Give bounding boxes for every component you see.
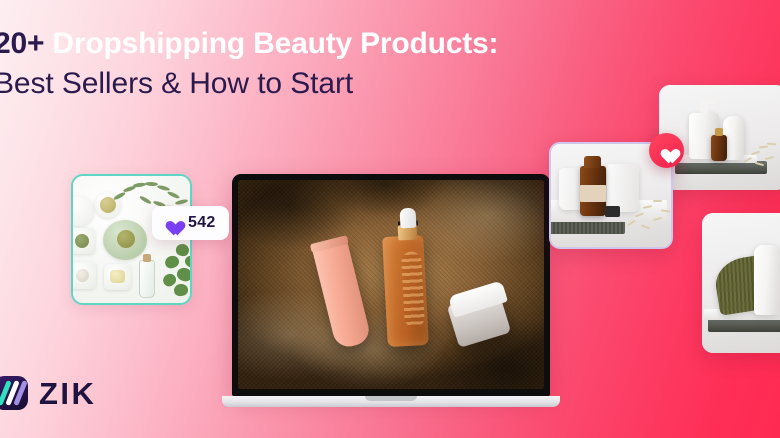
heart-icon	[163, 215, 180, 231]
headline-line-1-rest: Dropshipping Beauty Products:	[44, 27, 498, 60]
zik-logo[interactable]: ZIK	[0, 376, 96, 410]
white-cosmetic-tube	[754, 245, 780, 315]
headline-line-1: 20+ Dropshipping Beauty Products:	[0, 24, 634, 64]
headline-line-2: Best Sellers & How to Start	[0, 64, 634, 104]
serum-dropper-cap	[399, 208, 416, 229]
heart-icon	[658, 143, 675, 159]
headline-block: 20+ Dropshipping Beauty Products: Best S…	[0, 24, 634, 104]
bottle-shadow-block	[605, 206, 620, 217]
glass-bottle	[139, 260, 155, 298]
like-count-value: 542	[188, 214, 216, 232]
kraft-label	[580, 185, 606, 202]
laptop-lid	[232, 174, 550, 396]
product-count: 20+	[0, 27, 44, 60]
zik-wordmark: ZIK	[39, 378, 96, 409]
promo-banner: 20+ Dropshipping Beauty Products: Best S…	[0, 0, 780, 438]
mint-plant	[161, 238, 192, 300]
laptop-screen	[238, 180, 544, 389]
zik-slash-mark-icon	[0, 376, 28, 410]
laptop-notch	[365, 396, 417, 401]
laptop-mockup	[232, 174, 550, 407]
like-count-badge[interactable]: 542	[152, 206, 229, 240]
heart-like-badge[interactable]	[649, 133, 684, 168]
amber-dropper-bottle	[711, 135, 727, 161]
product-serum-bottle	[382, 235, 429, 347]
dried-flowers	[743, 137, 780, 171]
dried-flowers	[627, 192, 673, 236]
card-white-tube-with-palm-leaf	[702, 213, 780, 353]
laptop-base	[222, 396, 560, 407]
